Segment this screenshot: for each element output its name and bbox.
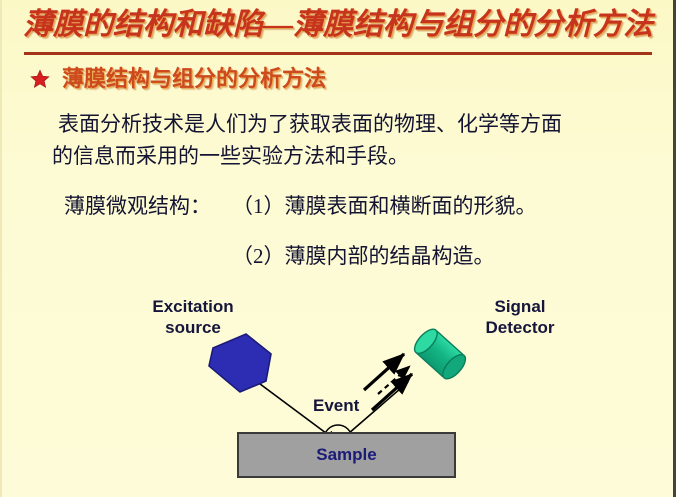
microstructure-item-2: （2）薄膜内部的结晶构造。: [232, 240, 495, 272]
microstructure-item-1: （1）薄膜表面和横断面的形貌。: [232, 190, 537, 222]
body-paragraph-1-line-2: 的信息而采用的一些实验方法和手段。: [52, 140, 562, 172]
title-divider-rule: [24, 52, 652, 55]
sample-box: Sample: [237, 432, 456, 478]
event-label: Event: [313, 396, 359, 416]
excitation-source-label-line-1: Excitation: [152, 297, 233, 316]
excitation-source-label-line-2: source: [165, 318, 221, 337]
excitation-source-label: Excitation source: [138, 296, 248, 338]
page-title: 薄膜的结构和缺陷—薄膜结构与组分的分析方法: [0, 6, 676, 44]
slide-canvas: 薄膜的结构和缺陷—薄膜结构与组分的分析方法 薄膜结构与组分的分析方法 表面分析技…: [0, 0, 676, 497]
body-paragraph-1-line-1: 表面分析技术是人们为了获取表面的物理、化学等方面: [58, 112, 562, 136]
body-paragraph-1: 表面分析技术是人们为了获取表面的物理、化学等方面 的信息而采用的一些实验方法和手…: [58, 108, 562, 172]
sample-label: Sample: [316, 445, 376, 465]
section-heading-text: 薄膜结构与组分的分析方法: [62, 66, 326, 92]
signal-detector-shape: [411, 325, 470, 382]
signal-detector-label-line-2: Detector: [486, 318, 555, 337]
signal-detector-label-line-1: Signal: [494, 297, 545, 316]
title-block: 薄膜的结构和缺陷—薄膜结构与组分的分析方法: [0, 6, 676, 44]
section-heading-row: 薄膜结构与组分的分析方法: [30, 66, 326, 92]
signal-detector-label: Signal Detector: [465, 296, 575, 338]
analysis-schematic-diagram: Excitation source Signal Detector Event …: [0, 282, 676, 497]
excitation-source-shape: [209, 334, 271, 392]
microstructure-label: 薄膜微观结构：: [64, 190, 211, 222]
red-star-icon: [30, 69, 50, 89]
